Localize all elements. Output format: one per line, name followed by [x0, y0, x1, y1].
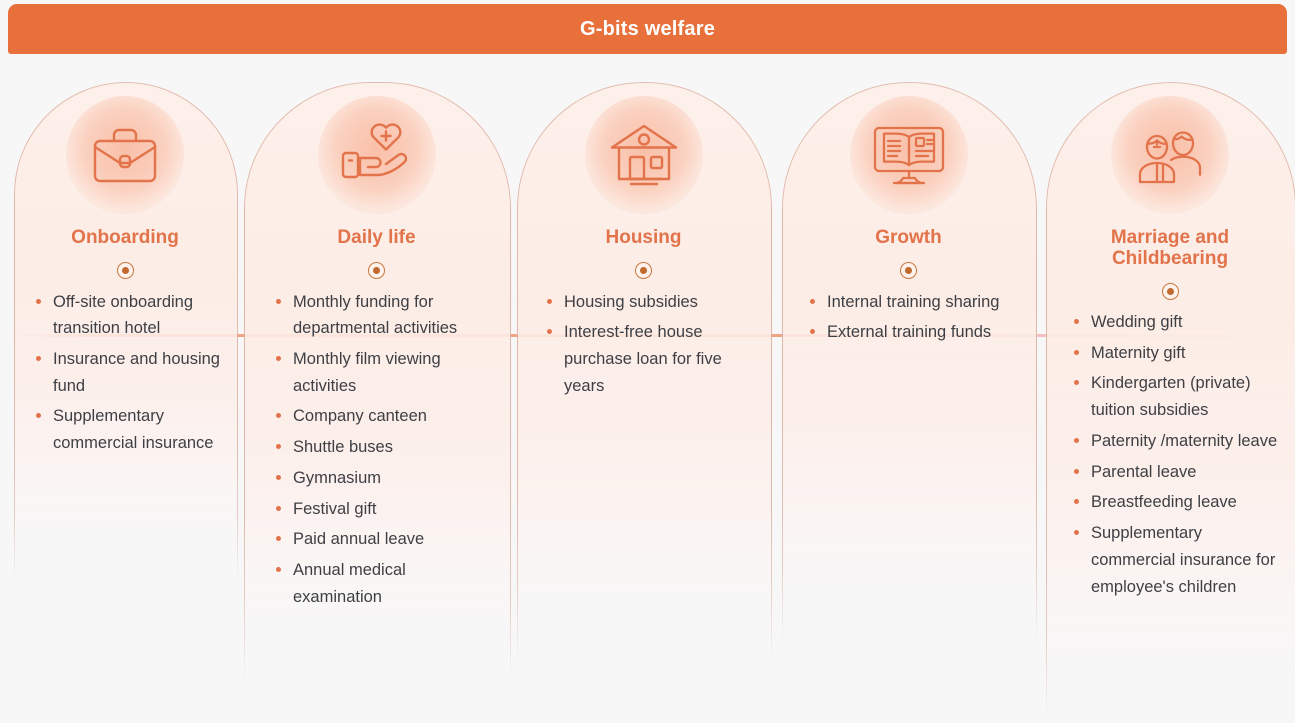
list-item: Monthly funding for departmental activit…	[276, 289, 499, 342]
timeline-node[interactable]	[117, 262, 134, 279]
list-item: Maternity gift	[1074, 340, 1284, 367]
page-title: G-bits welfare	[580, 18, 715, 41]
hand-heart-care-icon	[334, 120, 420, 190]
welfare-board: Onboarding Off-site onboarding transitio…	[0, 56, 1295, 715]
timeline-node-wrap	[517, 253, 770, 289]
list-item: Shuttle buses	[276, 434, 499, 461]
welfare-column-marriage-childbearing[interactable]: Marriage and Childbearing Wedding gift M…	[1046, 82, 1294, 604]
column-title: Daily life	[244, 228, 509, 249]
list-item: Interest-free house purchase loan for fi…	[547, 319, 760, 399]
welfare-column-daily-life[interactable]: Daily life Monthly funding for departmen…	[244, 82, 509, 614]
icon-area	[782, 96, 1035, 214]
timeline-node-wrap	[14, 253, 236, 289]
list-item: Wedding gift	[1074, 309, 1284, 336]
monitor-book-icon	[868, 120, 950, 190]
timeline-node-dot	[1167, 288, 1174, 295]
timeline-node[interactable]	[1162, 283, 1179, 300]
list-item: Supplementary commercial insurance for e…	[1074, 520, 1284, 600]
benefit-list: Internal training sharing External train…	[782, 289, 1035, 346]
timeline-node[interactable]	[900, 262, 917, 279]
timeline-node-wrap	[782, 253, 1035, 289]
column-title: Growth	[782, 228, 1035, 249]
welfare-column-growth[interactable]: Growth Internal training sharing Externa…	[782, 82, 1035, 350]
list-item: Housing subsidies	[547, 289, 760, 316]
list-item: Paternity /maternity leave	[1074, 428, 1284, 455]
benefit-list: Monthly funding for departmental activit…	[244, 289, 509, 611]
list-item: Annual medical examination	[276, 557, 499, 610]
timeline-node[interactable]	[635, 262, 652, 279]
timeline-node-dot	[905, 267, 912, 274]
briefcase-icon	[87, 120, 163, 190]
list-item: Breastfeeding leave	[1074, 489, 1284, 516]
icon-area	[517, 96, 770, 214]
house-icon	[604, 119, 684, 191]
list-item: Company canteen	[276, 403, 499, 430]
list-item: Paid annual leave	[276, 526, 499, 553]
timeline-node-dot	[122, 267, 129, 274]
list-item: Monthly film viewing activities	[276, 346, 499, 399]
list-item: External training funds	[810, 319, 1025, 346]
list-item: Internal training sharing	[810, 289, 1025, 316]
icon-area	[244, 96, 509, 214]
icon-area	[1046, 96, 1294, 214]
list-item: Off-site onboarding transition hotel	[36, 289, 226, 342]
column-title: Housing	[517, 228, 770, 249]
column-title: Marriage and Childbearing	[1046, 228, 1294, 269]
list-item: Festival gift	[276, 496, 499, 523]
timeline-node-dot	[640, 267, 647, 274]
welfare-column-housing[interactable]: Housing Housing subsidies Interest-free …	[517, 82, 770, 403]
icon-area	[14, 96, 236, 214]
welfare-column-onboarding[interactable]: Onboarding Off-site onboarding transitio…	[14, 82, 236, 461]
benefit-list: Housing subsidies Interest-free house pu…	[517, 289, 770, 400]
list-item: Parental leave	[1074, 459, 1284, 486]
benefit-list: Wedding gift Maternity gift Kindergarten…	[1046, 309, 1294, 600]
list-item: Kindergarten (private) tuition subsidies	[1074, 370, 1284, 423]
timeline-node-dot	[373, 267, 380, 274]
header-bar: G-bits welfare	[8, 4, 1287, 54]
list-item: Insurance and housing fund	[36, 346, 226, 399]
benefit-list: Off-site onboarding transition hotel Ins…	[14, 289, 236, 457]
list-item: Gymnasium	[276, 465, 499, 492]
column-title: Onboarding	[14, 228, 236, 249]
timeline-node-wrap	[244, 253, 509, 289]
couple-icon	[1127, 120, 1213, 190]
timeline-node[interactable]	[368, 262, 385, 279]
list-item: Supplementary commercial insurance	[36, 403, 226, 456]
timeline-node-wrap	[1046, 273, 1294, 309]
